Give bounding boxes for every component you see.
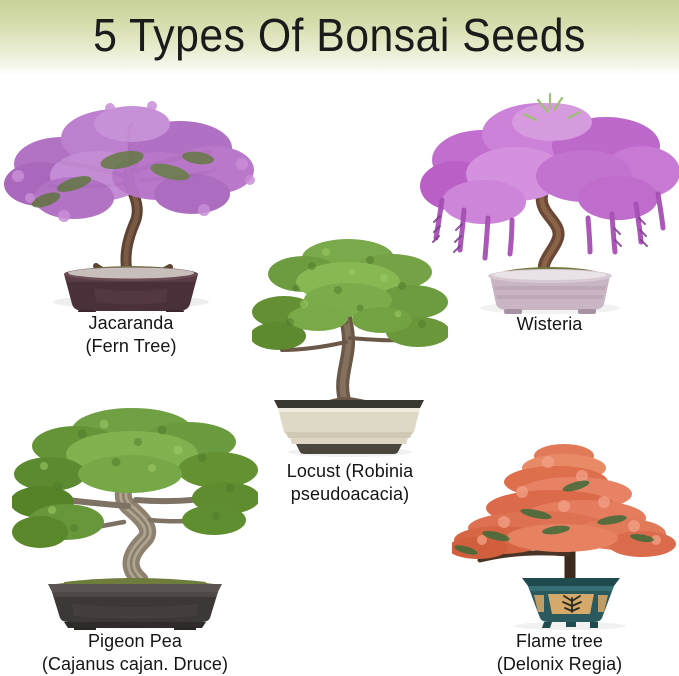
- caption-jacaranda: Jacaranda (Fern Tree): [2, 312, 260, 358]
- jacaranda-illustration: [2, 80, 260, 312]
- caption-locust: Locust (Robinia pseudoacacia): [240, 460, 460, 506]
- caption-flametree: Flame tree (Delonix Regia): [440, 630, 679, 676]
- bonsai-image-pigeonpea: [12, 402, 258, 630]
- caption-wisteria: Wisteria: [420, 313, 679, 336]
- title-banner: 5 Types Of Bonsai Seeds: [0, 0, 679, 74]
- page-title: 5 Types Of Bonsai Seeds: [24, 0, 655, 70]
- pigeonpea-illustration: [12, 402, 258, 630]
- locust-illustration: [252, 226, 448, 458]
- bonsai-image-wisteria: [420, 86, 679, 316]
- bonsai-image-locust: [252, 226, 448, 458]
- bonsai-image-flametree: [452, 442, 678, 630]
- wisteria-illustration: [420, 86, 679, 316]
- flametree-illustration: [452, 442, 678, 630]
- bonsai-image-jacaranda: [2, 80, 260, 312]
- caption-pigeonpea: Pigeon Pea (Cajanus cajan. Druce): [2, 630, 268, 676]
